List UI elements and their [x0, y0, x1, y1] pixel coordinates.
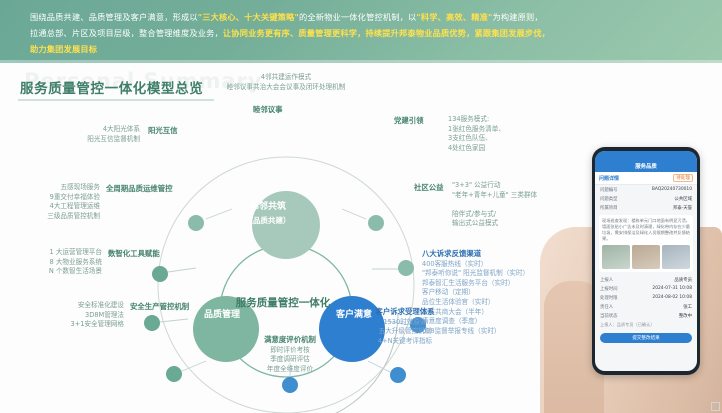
connector-party — [342, 209, 366, 219]
phone-detail-row: 上报人 品质专员 — [595, 275, 697, 284]
node-dot-full-cycle-quality — [152, 266, 168, 282]
node-text-neighbor-council: 4邻共建运作模式 睦邻议事共治大会会议事及闭环处理机制 — [186, 73, 386, 92]
phone-notch — [632, 148, 660, 151]
core-top-title: 邦邻共筑 — [250, 202, 286, 212]
phone-row-key-7: 当前状态 — [600, 313, 618, 319]
phone-detail-row: 处理时限 2024-08-02 10:08 — [595, 293, 697, 302]
phone-row-val-5: 2024-08-02 10:08 — [652, 295, 692, 301]
party-building-line-2: 3支红色队伍、 — [448, 134, 492, 142]
header-banner: 围绕品质共建、品质管理及客户满意，形成以"三大核心、十大关键策略"的全新物业一体… — [0, 0, 722, 63]
phone-detail-row: 责任人 张工 — [595, 302, 697, 311]
node-dot-community-welfare — [398, 260, 414, 276]
channels-line-4: 品位生活体验官（实时） — [422, 298, 495, 306]
phone-footer-text: 上报人：品质专员（已确认） — [595, 320, 697, 330]
channels-line-2: 邦泰智汇生活服务平台（实时） — [422, 279, 514, 287]
phone-row-val-4: 2024-07-31 10:08 — [652, 286, 692, 292]
phone-row-key-3: 上报人 — [600, 277, 613, 283]
banner-line2-part-a: 拉通总部、片区及项目层级，整合管理维度及业务， — [30, 28, 223, 38]
neighbor-council-line-0: 4邻共建运作模式 — [261, 73, 311, 81]
phone-submit-button[interactable]: 提交整改结果 — [600, 333, 692, 343]
safety-line-0: 安全标准化建设 — [78, 301, 124, 309]
corner-marker — [711, 402, 720, 411]
system-line-1: 五大升级管控机制 — [379, 327, 432, 335]
phone-row-key-0: 问题编号 — [600, 187, 618, 193]
phone-detail-row: 当前状态 整改中 — [595, 311, 697, 320]
node-text-satisfaction: 满意度评价机制 即时评价考核 季度调研评估 年度全维度评价 — [224, 335, 356, 374]
core-label-top: 邦邻共筑 （品质共建） — [222, 201, 314, 227]
banner-line3-highlight: 助力集团发展目标 — [30, 44, 97, 54]
phone-row-key-1: 问题类型 — [600, 196, 618, 202]
connector-quality — [168, 268, 196, 272]
node-heading-satisfaction: 满意度评价机制 — [224, 335, 356, 345]
banner-line-1: 围绕品质共建、品质管理及客户满意，形成以"三大核心、十大关键策略"的全新物业一体… — [30, 9, 702, 25]
node-heading-digital-tools: 数智化工具赋能 — [108, 248, 160, 259]
sunlight-trust-line-1: 阳光互信监督机制 — [87, 135, 140, 143]
neighbor-council-line-1: 睦邻议事共治大会会议事及闭环处理机制 — [227, 83, 346, 91]
phone-tab-active[interactable]: 问题详情 — [599, 175, 619, 182]
digital-tools-line-0: 1 大运营管理平台 — [50, 248, 102, 256]
banner-line1-part-c: 为构建原则， — [492, 12, 542, 22]
phone-row-val-7: 整改中 — [679, 313, 692, 319]
screenshot-root: 围绕品质共建、品质管理及客户满意，形成以"三大核心、十大关键策略"的全新物业一体… — [0, 0, 722, 413]
system-line-2: 4+N关键考评指标 — [378, 337, 432, 345]
phone-row-val-6: 张工 — [683, 304, 692, 310]
digital-tools-line-2: N 个数智生活场景 — [49, 267, 102, 275]
satisfaction-line-1: 季度调研评估 — [270, 355, 310, 363]
community-welfare-line-3: 输出式公益模式 — [452, 219, 498, 227]
diagram-stage: Personal Summary 服务质量管控一体化模型总览 — [0, 63, 722, 413]
node-text-safety-production: 安全标准化建设 3D8M管理法 3+1安全管理网格 — [38, 301, 124, 330]
phone-device: 服务品质 问题详情 待处理 问题编号 BAQ20240730010 问题类型 公… — [592, 147, 700, 375]
channels-line-3: 客户移动（定期） — [422, 288, 475, 296]
phone-detail-row: 所属项目 邦泰·天誉 — [595, 203, 697, 212]
community-welfare-line-1: "老年+青年+儿童" 三类群体 — [452, 191, 537, 199]
core-label-left: 品质管理 — [186, 309, 258, 321]
center-label: 服务质量管控一体化 — [233, 296, 333, 310]
banner-line-2: 拉通总部、片区及项目层级，整合管理维度及业务，让协同业务更有序、质量管理更科学，… — [30, 25, 702, 41]
phone-photo-thumbnail[interactable] — [632, 245, 660, 269]
phone-status-badge: 待处理 — [673, 174, 693, 182]
node-heading-safety-production: 安全生产管控机制 — [130, 301, 189, 312]
core-top-subtitle: （品质共建） — [222, 215, 314, 227]
phone-detail-row: 上报时间 2024-07-31 10:08 — [595, 284, 697, 293]
banner-line1-part-b: 的全新物业一体化管控机制，以 — [299, 12, 416, 22]
node-text-community-welfare: "3+3" 公益行动 "老年+青年+儿童" 三类群体 陪伴式/参与式/ 输出式公… — [452, 181, 537, 229]
node-text-full-cycle-quality: 五感现场服务 9重交付幸福体验 4大工程管理运维 三级品质管控机制 — [10, 183, 100, 221]
phone-row-key-2: 所属项目 — [600, 205, 618, 211]
node-heading-party-building: 党建引领 — [394, 115, 424, 126]
phone-row-val-1: 公共区域 — [674, 196, 692, 202]
satisfaction-line-0: 即时评价考核 — [270, 346, 310, 354]
channels-line-1: "邦泰听你说" 阳光监督机制（实时） — [422, 269, 529, 277]
digital-tools-line-1: 8 大物业服务系统 — [50, 258, 102, 266]
banner-line-3: 助力集团发展目标 — [30, 41, 702, 57]
banner-line1-highlight-1: "三大核心、十大关键策略" — [198, 12, 299, 22]
channels-line-0: 400客服热线（实时） — [422, 260, 487, 268]
node-heading-appeal-system: 客户诉求受理体系 — [352, 307, 458, 317]
banner-text-block: 围绕品质共建、品质管理及客户满意，形成以"三大核心、十大关键策略"的全新物业一体… — [30, 9, 702, 57]
node-heading-sunlight-trust: 阳光互信 — [148, 125, 178, 136]
party-building-line-1: 1张红色服务清单、 — [448, 125, 505, 133]
phone-nav-title: 服务品质 — [595, 159, 697, 172]
phone-detail-row: 问题类型 公共区域 — [595, 194, 697, 203]
node-heading-appeal-channels: 八大诉求反馈渠道 — [422, 249, 529, 259]
node-dot-appeal-system — [390, 367, 406, 383]
connector-safety — [182, 361, 206, 371]
full-cycle-line-3: 三级品质管控机制 — [47, 212, 100, 220]
node-heading-neighbor-council: 睦邻议事 — [253, 104, 283, 115]
banner-line1-part-a: 围绕品质共建、品质管理及客户满意，形成以 — [30, 12, 198, 22]
phone-row-val-2: 邦泰·天誉 — [673, 205, 692, 211]
full-cycle-line-2: 4大工程管理运维 — [50, 202, 100, 210]
phone-screen: 服务品质 问题详情 待处理 问题编号 BAQ20240730010 问题类型 公… — [595, 151, 697, 371]
full-cycle-line-0: 五感现场服务 — [60, 183, 100, 191]
node-dot-satisfaction-evaluation — [282, 377, 298, 393]
phone-image-row — [602, 245, 690, 269]
phone-description-card: 现场巡查发现：楼栋单元门口地面有明显污渍，墙面张贴小广告未及时清理，绿化带内存在… — [599, 215, 693, 272]
node-dot-digital-tools — [144, 315, 160, 331]
phone-description-text: 现场巡查发现：楼栋单元门口地面有明显污渍，墙面张贴小广告未及时清理，绿化带内存在… — [602, 218, 690, 242]
phone-row-key-5: 处理时限 — [600, 295, 618, 301]
node-text-party-building: 134服务模式: 1张红色服务清单、 3支红色队伍、 4处红色家园 — [448, 115, 505, 153]
phone-row-val-0: BAQ20240730010 — [652, 187, 692, 193]
party-building-line-3: 4处红色家园 — [448, 144, 485, 152]
community-welfare-line-0: "3+3" 公益行动 — [452, 181, 500, 189]
connector-digital — [160, 319, 188, 322]
node-text-digital-tools: 1 大运营管理平台 8 大物业服务系统 N 个数智生活场景 — [16, 248, 102, 277]
node-dot-sunlight-trust — [188, 215, 204, 231]
phone-photo-thumbnail[interactable] — [602, 245, 630, 269]
phone-status-bar — [595, 151, 697, 159]
full-cycle-line-1: 9重交付幸福体验 — [50, 193, 100, 201]
node-text-appeal-system: 客户诉求受理体系 1530时效原则 五大升级管控机制 4+N关键考评指标 — [352, 307, 458, 346]
party-building-line-0: 134服务模式: — [448, 115, 489, 123]
node-dot-safety-production — [166, 366, 182, 382]
safety-line-2: 3+1安全管理网格 — [71, 320, 124, 328]
phone-row-val-3: 品质专员 — [674, 277, 692, 283]
sunlight-trust-line-0: 4大阳光体系 — [103, 125, 140, 133]
phone-tab-bar[interactable]: 问题详情 待处理 — [595, 172, 697, 185]
phone-row-key-6: 责任人 — [600, 304, 613, 310]
phone-illustration: 服务品质 问题详情 待处理 问题编号 BAQ20240730010 问题类型 公… — [540, 131, 722, 413]
banner-line1-highlight-2: "科学、高效、精准" — [416, 12, 492, 22]
node-heading-full-cycle-quality: 全周期品质运维管控 — [106, 183, 173, 194]
community-welfare-line-2: 陪伴式/参与式/ — [452, 210, 496, 218]
satisfaction-line-2: 年度全维度评价 — [267, 365, 313, 373]
phone-photo-thumbnail[interactable] — [662, 245, 690, 269]
system-line-0: 1530时效原则 — [383, 318, 426, 326]
phone-row-key-4: 上报时间 — [600, 286, 618, 292]
safety-line-1: 3D8M管理法 — [85, 311, 124, 319]
node-text-sunlight-trust: 4大阳光体系 阳光互信监督机制 — [30, 125, 140, 144]
node-dot-party-building — [368, 215, 384, 231]
banner-line2-highlight: 让协同业务更有序、质量管理更科学，持续提升邦泰物业品质优势，紧跟集团发展步伐， — [223, 28, 550, 38]
phone-detail-row: 问题编号 BAQ20240730010 — [595, 185, 697, 194]
node-heading-community-welfare: 社区公益 — [414, 182, 444, 193]
